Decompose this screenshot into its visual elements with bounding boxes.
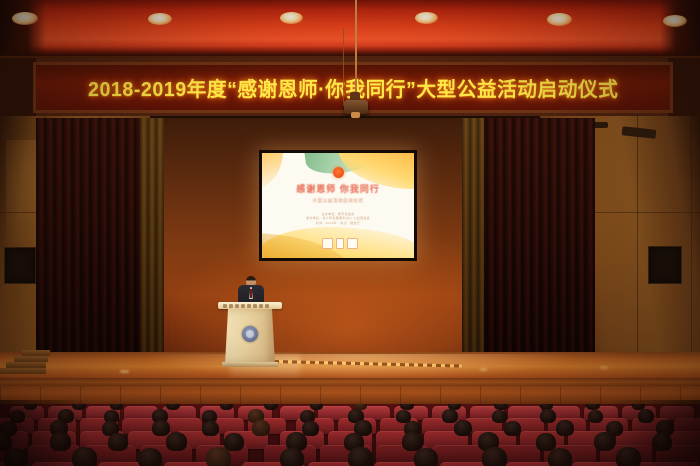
audience-head [138,448,162,466]
downlight-2-icon [148,13,172,25]
audience-head [504,421,521,436]
projector-pole [355,0,357,104]
audience-head [302,421,319,436]
slide-footnote: 时间：2018年 · 地点：报告厅 [262,221,414,226]
audience-head [280,448,304,466]
stage-step [14,356,48,362]
slide-badge-icon [322,238,333,249]
podium-emblem-icon [242,326,258,342]
stage-curtain-right [477,118,595,354]
audience-head [492,410,507,423]
projection-screen: 感谢恩师 你我同行 大型公益活动启动仪式 主办单位：教育基金会 承办单位：青少年… [259,150,417,261]
stage-floor-shine [150,354,570,380]
stage-glint [120,370,129,373]
presenter-tie [250,289,252,298]
audience-head [252,420,270,436]
audience-head [482,447,507,466]
curtain-valance-left [140,118,164,354]
projection-screen-surface: 感谢恩师 你我同行 大型公益活动启动仪式 主办单位：教育基金会 承办单位：青少年… [262,153,414,258]
audience-head [264,404,278,410]
downlight-3-icon [280,12,303,24]
audience-head [454,420,472,436]
podium-base [222,362,278,367]
curtain-valance-right [462,118,484,354]
audience-head [442,409,458,423]
wall-speaker-left-icon [4,247,36,284]
slide-footnotes: 主办单位：教育基金会 承办单位：青少年发展服务中心·公益促进会 时间：2018年… [262,212,414,226]
audience-head [166,432,187,451]
slide-badge-icon [347,238,358,249]
audience-head [202,421,219,436]
audience-head [220,404,233,410]
audience-head [206,447,231,466]
stage-step [6,362,46,368]
projector-cable [343,28,344,106]
audience-head [152,420,170,436]
downlight-4-icon [415,12,438,24]
audience-head [348,447,373,466]
downlight-1-icon [12,12,38,25]
slide-subtitle-text: 大型公益活动启动仪式 [262,198,414,204]
downlight-5-icon [547,13,572,26]
audience-head [224,433,244,451]
slide-sponsor-badges [322,238,358,249]
audience-head [540,409,556,423]
audience-head [548,448,572,466]
slide-title-text: 感谢恩师 你我同行 [262,182,414,195]
stage-step [0,368,46,374]
audience-head [414,448,438,466]
slide-badge-divider-icon [336,238,344,249]
slide-logo-icon [333,167,344,178]
stage-step [22,350,50,356]
audience-head [556,420,574,436]
banner-wall-left-block [0,58,36,120]
downlight-6-icon [663,15,687,27]
wall-seam [637,116,638,374]
audience-vignette-right [610,400,700,466]
audience-head [310,404,323,410]
wall-seam [691,116,692,374]
podium [218,276,282,366]
auditorium-photo: 2018-2019年度“感谢恩师·你我同行”大型公益活动启动仪式 感谢恩师 你我… [0,0,700,466]
audience-seating [0,404,700,466]
podium-top-lettering [223,303,277,308]
stage-curtain-left [36,118,151,352]
stage-glint [480,368,487,371]
audience-head [108,433,128,451]
audience-vignette-left [0,400,90,466]
stage-glint [600,366,608,369]
audience-head [588,410,603,423]
wall-speaker-right-icon [648,246,682,284]
